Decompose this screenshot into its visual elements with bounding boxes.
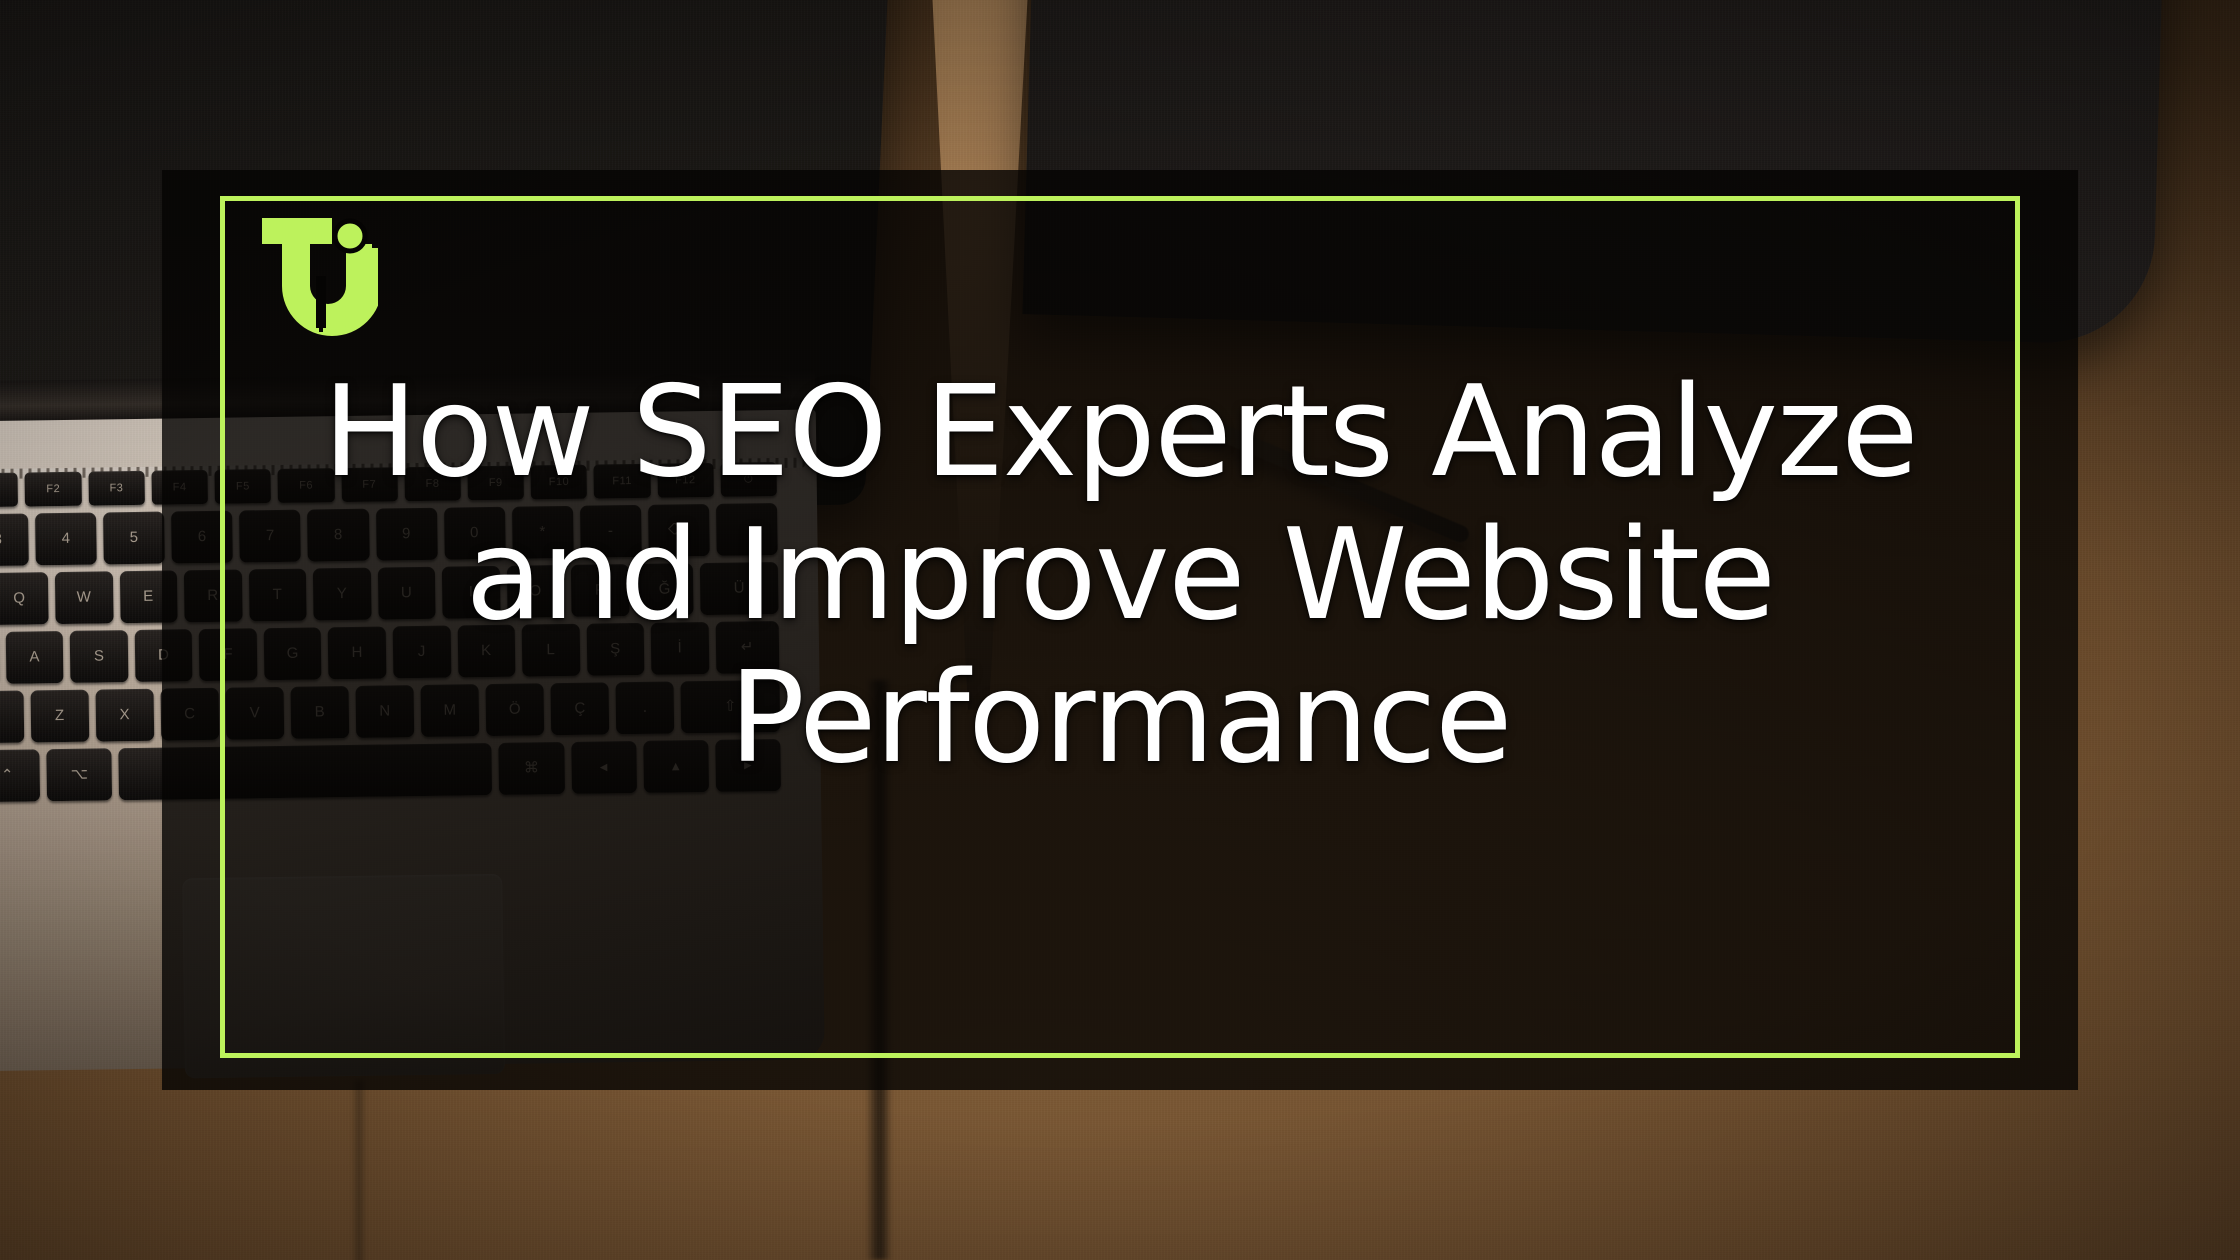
page-title: How SEO Experts Analyze and Improve Webs…: [220, 360, 2020, 789]
overlay-panel: How SEO Experts Analyze and Improve Webs…: [162, 170, 2078, 1090]
ti-monogram-logo[interactable]: [262, 214, 378, 338]
banner-canvas: escF1 F2F3 F4F5 F6F7 F8F9 F10F11 F12⏻ 23…: [0, 0, 2240, 1260]
